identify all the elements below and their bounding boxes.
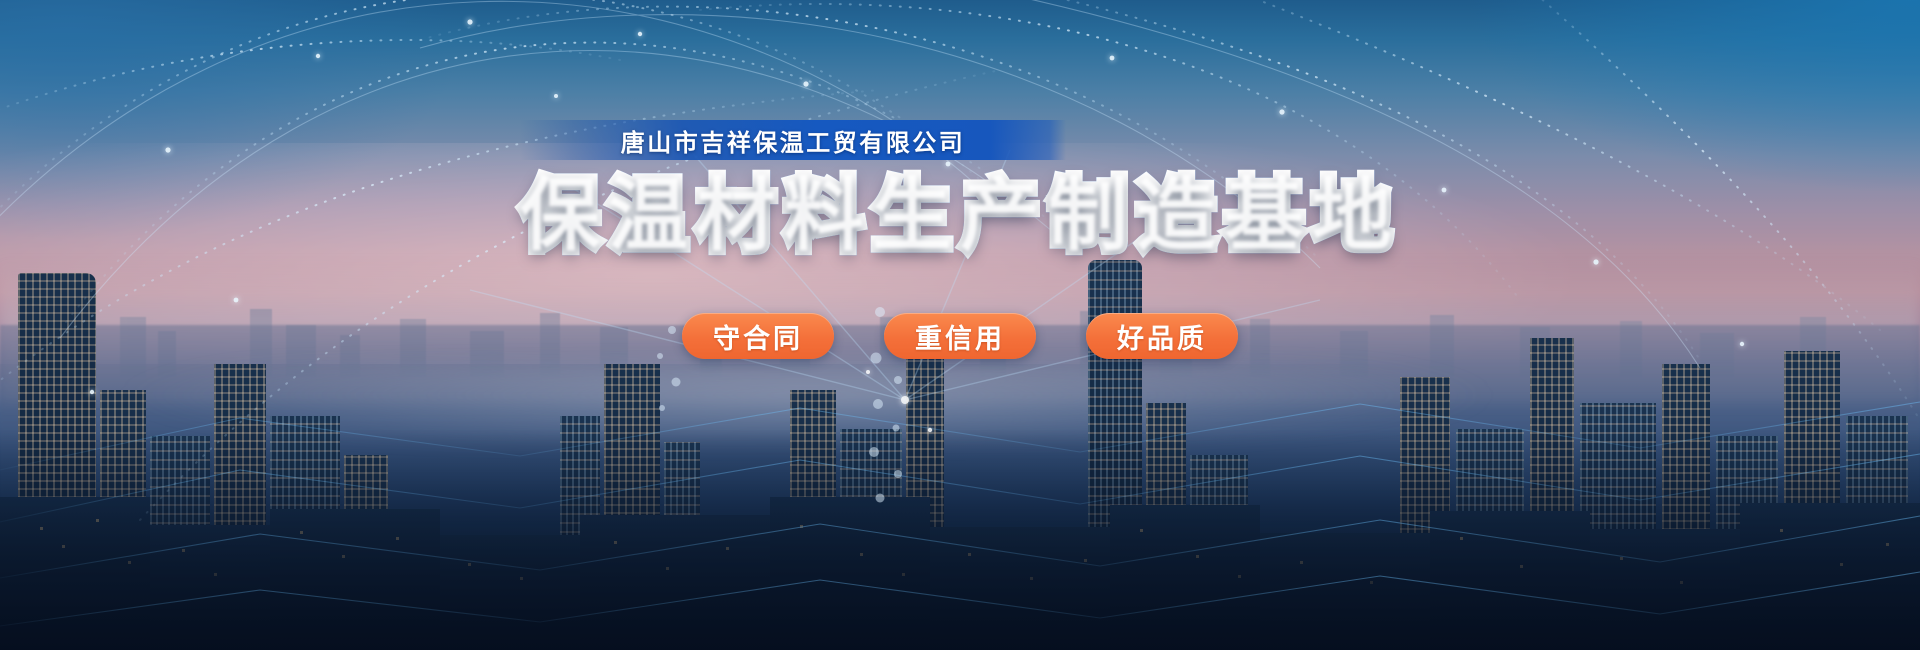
feature-pill-label: 重信用 — [915, 317, 1005, 356]
page-title: 保温材料生产制造基地 — [0, 176, 1920, 256]
company-name-bar: 唐山市吉祥保温工贸有限公司 — [520, 120, 1066, 160]
company-name-text: 唐山市吉祥保温工贸有限公司 — [621, 123, 966, 158]
feature-pill-label: 好品质 — [1117, 317, 1207, 356]
feature-pill-quality[interactable]: 好品质 — [1086, 313, 1238, 359]
banner-content: 唐山市吉祥保温工贸有限公司 保温材料生产制造基地 守合同 重信用 好品质 — [0, 0, 1920, 650]
feature-pill-group: 守合同 重信用 好品质 — [0, 313, 1920, 359]
hero-banner: 唐山市吉祥保温工贸有限公司 保温材料生产制造基地 守合同 重信用 好品质 — [0, 0, 1920, 650]
feature-pill-label: 守合同 — [713, 317, 803, 356]
feature-pill-contract[interactable]: 守合同 — [682, 313, 834, 359]
headline-text: 保温材料生产制造基地 — [520, 171, 1400, 260]
feature-pill-credit[interactable]: 重信用 — [884, 313, 1036, 359]
